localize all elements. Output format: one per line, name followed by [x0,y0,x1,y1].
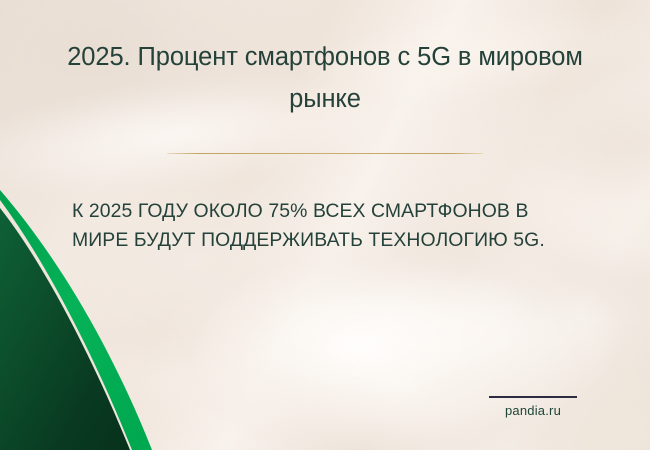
footer-divider-rule [489,396,577,398]
page-title: 2025. Процент смартфонов с 5G в мировом … [55,36,595,120]
gold-divider-rule [167,153,483,154]
footer-watermark: pandia.ru [489,396,577,419]
slide-canvas: 2025. Процент смартфонов с 5G в мировом … [0,0,650,450]
body-paragraph: К 2025 ГОДУ ОКОЛО 75% ВСЕХ СМАРТФОНОВ В … [72,197,580,255]
footer-site-label: pandia.ru [489,402,577,419]
